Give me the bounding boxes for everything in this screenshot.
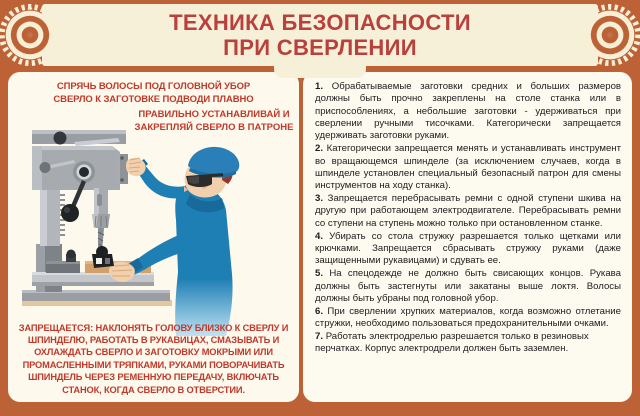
rule-text: Убирать со стола стружку разрешается тол… — [315, 231, 621, 267]
rule-text: Обрабатываемые заготовки средних и больш… — [315, 81, 621, 141]
poster-header: ТЕХНИКА БЕЗОПАСНОСТИ ПРИ СВЕРЛЕНИИ — [0, 0, 640, 70]
safety-poster: ТЕХНИКА БЕЗОПАСНОСТИ ПРИ СВЕРЛЕНИИ СПРЯЧ… — [0, 0, 640, 416]
rule-number: 3. — [315, 193, 323, 204]
rule-number: 2. — [315, 143, 323, 154]
rule-item: 1. Обрабатываемые заготовки средних и бо… — [315, 81, 621, 143]
rule-item: 4. Убирать со стола стружку разрешается … — [315, 231, 621, 268]
rules-list: 1. Обрабатываемые заготовки средних и бо… — [315, 81, 621, 393]
illustration-panel: СПРЯЧЬ ВОЛОСЫ ПОД ГОЛОВНОЙ УБОР СВЕРЛО К… — [8, 72, 299, 402]
warning-right-line-1: ПРАВИЛЬНО УСТАНАВЛИВАЙ И — [133, 108, 295, 121]
rule-item: 7. Работать электродрелью разрешается то… — [315, 331, 621, 356]
rule-number: 7. — [315, 331, 323, 342]
page-title: ТЕХНИКА БЕЗОПАСНОСТИ ПРИ СВЕРЛЕНИИ — [42, 6, 598, 64]
drill-press-worker-illustration — [8, 124, 299, 336]
rule-text: При сверлении хрупких материалов, когда … — [315, 306, 621, 329]
warning-bottom: ЗАПРЕЩАЕТСЯ: НАКЛОНЯТЬ ГОЛОВУ БЛИЗКО К С… — [12, 322, 295, 396]
rule-text: Запрещается перебрасывать ремни с одной … — [315, 193, 621, 229]
title-line-1: ТЕХНИКА БЕЗОПАСНОСТИ — [169, 10, 471, 35]
rule-number: 6. — [315, 306, 323, 317]
title-line-2: ПРИ СВЕРЛЕНИИ — [223, 35, 417, 60]
rule-text: Работать электродрелью разрешается тольк… — [315, 331, 589, 354]
warning-top-line-2: СВЕРЛО К ЗАГОТОВКЕ ПОДВОДИ ПЛАВНО — [8, 93, 299, 106]
rule-item: 2. Категорически запрещается менять и ус… — [315, 143, 621, 192]
rule-item: 3. Запрещается перебрасывать ремни с одн… — [315, 193, 621, 230]
rule-number: 4. — [315, 231, 323, 242]
rule-text: Категорически запрещается менять и устан… — [315, 143, 621, 191]
rule-number: 5. — [315, 268, 323, 279]
rule-item: 5. На спецодежде не должно быть свисающи… — [315, 268, 621, 305]
header-notch — [274, 64, 366, 78]
rule-text: На спецодежде не должно быть свисающих к… — [315, 268, 621, 304]
rule-item: 6. При сверлении хрупких материалов, ког… — [315, 306, 621, 331]
rules-panel: 1. Обрабатываемые заготовки средних и бо… — [303, 72, 632, 402]
rule-number: 1. — [315, 81, 323, 92]
warning-top-line-1: СПРЯЧЬ ВОЛОСЫ ПОД ГОЛОВНОЙ УБОР — [8, 80, 299, 93]
warning-top: СПРЯЧЬ ВОЛОСЫ ПОД ГОЛОВНОЙ УБОР СВЕРЛО К… — [8, 80, 299, 106]
